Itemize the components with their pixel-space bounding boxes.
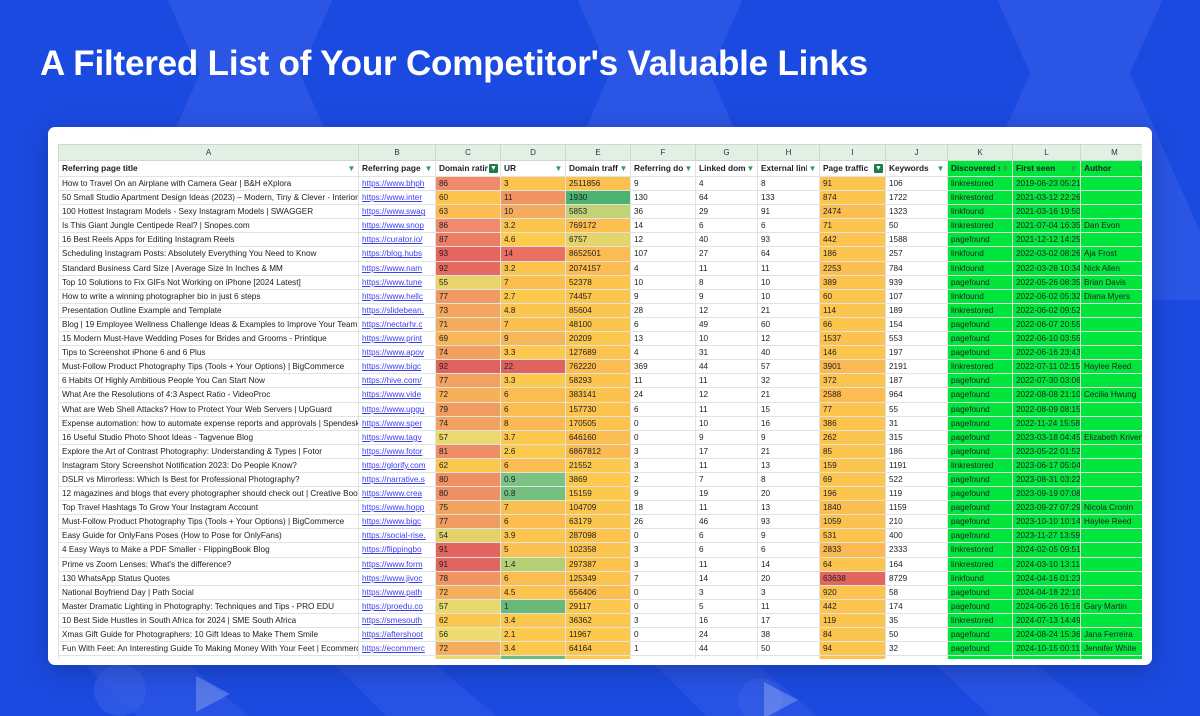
cell-referring-page-url[interactable]: https://smesouth xyxy=(359,613,436,627)
cell-keywords[interactable]: 50 xyxy=(886,628,948,642)
cell-linked-domains[interactable]: 6 xyxy=(696,219,758,233)
cell-referring-page-url[interactable]: https://www.path xyxy=(359,585,436,599)
cell-author[interactable] xyxy=(1081,472,1143,486)
column-letter-j[interactable]: J xyxy=(886,145,948,161)
cell-domain-rating[interactable]: 72 xyxy=(436,642,501,656)
table-row[interactable]: Instagram Story Screenshot Notification … xyxy=(59,458,1143,472)
cell-domain-traffic[interactable]: 20209 xyxy=(566,332,631,346)
cell-author[interactable] xyxy=(1081,444,1143,458)
cell-keywords[interactable]: 400 xyxy=(886,529,948,543)
referring-page-link[interactable]: https://www.jivoc xyxy=(362,574,423,583)
referring-page-link[interactable]: https://www.bigc xyxy=(362,362,421,371)
cell-keywords[interactable]: 32 xyxy=(886,642,948,656)
cell-linked-domains[interactable]: 12 xyxy=(696,303,758,317)
cell-domain-traffic[interactable]: 656406 xyxy=(566,585,631,599)
cell-referring-page-url[interactable]: https://curator.io/ xyxy=(359,233,436,247)
cell-referring-domains[interactable]: 7 xyxy=(631,571,696,585)
cell-first-seen[interactable]: 2023-09-19 07:08 xyxy=(1013,487,1081,501)
cell-author[interactable] xyxy=(1081,205,1143,219)
cell-page-traffic[interactable]: 1059 xyxy=(820,515,886,529)
cell-domain-traffic[interactable]: 63179 xyxy=(566,515,631,529)
cell-first-seen[interactable]: 2022-05-26 08:35 xyxy=(1013,275,1081,289)
cell-referring-page-url[interactable]: https://flippingbo xyxy=(359,543,436,557)
cell-discovered-status[interactable]: linkrestored xyxy=(948,458,1013,472)
cell-ur[interactable]: 3.4 xyxy=(501,642,566,656)
cell-author[interactable]: Brian Davis xyxy=(1081,275,1143,289)
cell-domain-traffic[interactable]: 8652501 xyxy=(566,247,631,261)
cell-ur[interactable]: 3 xyxy=(501,177,566,191)
cell-domain-traffic[interactable]: 297387 xyxy=(566,557,631,571)
cell-discovered-status[interactable]: linkrestored xyxy=(948,557,1013,571)
cell-referring-page-title[interactable]: 130 WhatsApp Status Quotes xyxy=(59,571,359,585)
cell-referring-page-url[interactable]: https://www.inter xyxy=(359,191,436,205)
referring-page-link[interactable]: https://www.inter xyxy=(362,193,422,202)
cell-first-seen[interactable]: 2022-06-16 23:43 xyxy=(1013,346,1081,360)
cell-referring-domains[interactable]: 9 xyxy=(631,289,696,303)
cell-domain-rating[interactable]: 72 xyxy=(436,585,501,599)
table-row[interactable]: Scheduling Instagram Posts: Absolutely E… xyxy=(59,247,1143,261)
cell-referring-page-title[interactable]: Xmas Gift Guide for Photographers: 10 Gi… xyxy=(59,628,359,642)
referring-page-link[interactable]: https://www.print xyxy=(362,334,422,343)
cell-ur[interactable]: 6 xyxy=(501,388,566,402)
cell-keywords[interactable]: 1323 xyxy=(886,205,948,219)
cell-domain-rating[interactable]: 86 xyxy=(436,177,501,191)
cell-referring-page-title[interactable]: Ultimate Guide To Full Body Poses In Pho… xyxy=(59,656,359,659)
referring-page-link[interactable]: https://www.path xyxy=(362,588,422,597)
cell-external-links[interactable]: 9 xyxy=(758,529,820,543)
cell-linked-domains[interactable]: 19 xyxy=(696,487,758,501)
cell-author[interactable] xyxy=(1081,416,1143,430)
cell-domain-traffic[interactable]: 104709 xyxy=(566,501,631,515)
table-row[interactable]: What are Web Shell Attacks? How to Prote… xyxy=(59,402,1143,416)
cell-domain-traffic[interactable]: 127689 xyxy=(566,346,631,360)
cell-ur[interactable]: 10 xyxy=(501,205,566,219)
cell-domain-traffic[interactable]: 125349 xyxy=(566,571,631,585)
cell-domain-rating[interactable]: 62 xyxy=(436,613,501,627)
cell-referring-page-title[interactable]: Expense automation: how to automate expe… xyxy=(59,416,359,430)
cell-first-seen[interactable]: 2023-05-22 01:52 xyxy=(1013,444,1081,458)
cell-referring-domains[interactable]: 3 xyxy=(631,458,696,472)
cell-first-seen[interactable]: 2021-03-16 19:50 xyxy=(1013,205,1081,219)
cell-referring-page-title[interactable]: How to Travel On an Airplane with Camera… xyxy=(59,177,359,191)
filter-icon[interactable]: ▼ xyxy=(554,164,563,173)
cell-domain-traffic[interactable]: 64164 xyxy=(566,642,631,656)
cell-external-links[interactable]: 16 xyxy=(758,416,820,430)
cell-domain-traffic[interactable]: 3869 xyxy=(566,472,631,486)
cell-referring-domains[interactable]: 9 xyxy=(631,487,696,501)
cell-referring-page-title[interactable]: Must-Follow Product Photography Tips (To… xyxy=(59,515,359,529)
cell-linked-domains[interactable]: 29 xyxy=(696,205,758,219)
referring-page-link[interactable]: https://www.sper xyxy=(362,419,422,428)
cell-keywords[interactable]: 189 xyxy=(886,303,948,317)
cell-referring-page-title[interactable]: National Boyfriend Day | Path Social xyxy=(59,585,359,599)
referring-page-link[interactable]: https://www.hopp xyxy=(362,503,424,512)
cell-linked-domains[interactable]: 5 xyxy=(696,599,758,613)
cell-domain-traffic[interactable]: 2074157 xyxy=(566,261,631,275)
referring-page-link[interactable]: https://smesouth xyxy=(362,616,422,625)
cell-page-traffic[interactable]: 186 xyxy=(820,247,886,261)
referring-page-link[interactable]: https://www.hellc xyxy=(362,292,423,301)
cell-author[interactable]: Elizabeth Krivenja xyxy=(1081,430,1143,444)
cell-linked-domains[interactable]: 9 xyxy=(696,289,758,303)
table-row[interactable]: 50 Small Studio Apartment Design Ideas (… xyxy=(59,191,1143,205)
cell-domain-rating[interactable]: 92 xyxy=(436,360,501,374)
cell-external-links[interactable]: 11 xyxy=(758,261,820,275)
cell-discovered-status[interactable]: pagefound xyxy=(948,332,1013,346)
column-letter-b[interactable]: B xyxy=(359,145,436,161)
cell-ur[interactable]: 9 xyxy=(501,332,566,346)
cell-linked-domains[interactable]: 13 xyxy=(696,656,758,659)
filter-icon[interactable]: ▼ xyxy=(936,164,945,173)
cell-referring-domains[interactable]: 4 xyxy=(631,346,696,360)
cell-referring-domains[interactable]: 36 xyxy=(631,205,696,219)
cell-referring-page-title[interactable]: Easy Guide for OnlyFans Poses (How to Po… xyxy=(59,529,359,543)
cell-ur[interactable]: 3.3 xyxy=(501,374,566,388)
spreadsheet-scroll-area[interactable]: ABCDEFGHIJKLM Referring page title▼Refer… xyxy=(58,144,1142,659)
cell-discovered-status[interactable]: pagefound xyxy=(948,388,1013,402)
cell-discovered-status[interactable]: pagefound xyxy=(948,628,1013,642)
cell-referring-page-url[interactable]: https://www.tune xyxy=(359,275,436,289)
referring-page-link[interactable]: https://www.tagv xyxy=(362,433,422,442)
table-row[interactable]: Blog | 19 Employee Wellness Challenge Id… xyxy=(59,317,1143,331)
cell-discovered-status[interactable]: linkfound xyxy=(948,289,1013,303)
cell-author[interactable] xyxy=(1081,374,1143,388)
cell-referring-domains[interactable]: 6 xyxy=(631,317,696,331)
cell-domain-traffic[interactable]: 2511856 xyxy=(566,177,631,191)
cell-referring-page-title[interactable]: Is This Giant Jungle Centipede Real? | S… xyxy=(59,219,359,233)
cell-author[interactable] xyxy=(1081,557,1143,571)
cell-referring-page-url[interactable]: https://proedu.co xyxy=(359,599,436,613)
cell-referring-domains[interactable]: 24 xyxy=(631,388,696,402)
cell-first-seen[interactable]: 2021-03-12 22:26 xyxy=(1013,191,1081,205)
cell-discovered-status[interactable]: pagefound xyxy=(948,430,1013,444)
column-letter-k[interactable]: K xyxy=(948,145,1013,161)
cell-referring-page-title[interactable]: 10 Best Side Hustles in South Africa for… xyxy=(59,613,359,627)
cell-author[interactable]: Dan Evon xyxy=(1081,219,1143,233)
table-row[interactable]: 16 Useful Studio Photo Shoot Ideas - Tag… xyxy=(59,430,1143,444)
cell-domain-traffic[interactable]: 15159 xyxy=(566,487,631,501)
cell-referring-domains[interactable]: 3 xyxy=(631,613,696,627)
cell-domain-rating[interactable]: 74 xyxy=(436,416,501,430)
cell-page-traffic[interactable]: 71 xyxy=(820,219,886,233)
cell-referring-domains[interactable]: 0 xyxy=(631,430,696,444)
cell-referring-page-title[interactable]: Top 10 Solutions to Fix GIFs Not Working… xyxy=(59,275,359,289)
cell-linked-domains[interactable]: 14 xyxy=(696,571,758,585)
cell-domain-traffic[interactable]: 5853 xyxy=(566,205,631,219)
cell-external-links[interactable]: 21 xyxy=(758,444,820,458)
cell-external-links[interactable]: 21 xyxy=(758,303,820,317)
referring-page-link[interactable]: https://www.nam xyxy=(362,264,422,273)
cell-domain-rating[interactable]: 56 xyxy=(436,628,501,642)
cell-referring-page-url[interactable]: https://www.swag xyxy=(359,205,436,219)
cell-ur[interactable]: 8 xyxy=(501,416,566,430)
cell-keywords[interactable]: 1191 xyxy=(886,458,948,472)
cell-external-links[interactable]: 8 xyxy=(758,177,820,191)
cell-domain-rating[interactable]: 91 xyxy=(436,543,501,557)
cell-page-traffic[interactable]: 64 xyxy=(820,557,886,571)
referring-page-link[interactable]: https://aftershoot xyxy=(362,630,423,639)
cell-linked-domains[interactable]: 6 xyxy=(696,543,758,557)
cell-domain-rating[interactable]: 77 xyxy=(436,374,501,388)
cell-ur[interactable]: 3.2 xyxy=(501,219,566,233)
cell-referring-domains[interactable]: 9 xyxy=(631,177,696,191)
cell-linked-domains[interactable]: 44 xyxy=(696,360,758,374)
cell-linked-domains[interactable]: 11 xyxy=(696,261,758,275)
table-row[interactable]: Xmas Gift Guide for Photographers: 10 Gi… xyxy=(59,628,1143,642)
cell-ur[interactable]: 1 xyxy=(501,599,566,613)
cell-domain-rating[interactable]: 91 xyxy=(436,557,501,571)
referring-page-link[interactable]: https://www.swag xyxy=(362,207,425,216)
cell-keywords[interactable]: 58 xyxy=(886,585,948,599)
cell-linked-domains[interactable]: 24 xyxy=(696,628,758,642)
cell-referring-domains[interactable]: 0 xyxy=(631,529,696,543)
cell-first-seen[interactable]: 2022-03-28 10:34 xyxy=(1013,261,1081,275)
cell-keywords[interactable]: 50 xyxy=(886,219,948,233)
cell-domain-traffic[interactable]: 6757 xyxy=(566,233,631,247)
cell-discovered-status[interactable]: linkrestored xyxy=(948,613,1013,627)
cell-first-seen[interactable]: 2021-12-12 14:25 xyxy=(1013,233,1081,247)
cell-author[interactable]: Aja Frost xyxy=(1081,247,1143,261)
cell-referring-domains[interactable]: 11 xyxy=(631,374,696,388)
table-row[interactable]: Presentation Outline Example and Templat… xyxy=(59,303,1143,317)
table-row[interactable]: Master Dramatic Lighting in Photography:… xyxy=(59,599,1143,613)
cell-keywords[interactable]: 119 xyxy=(886,487,948,501)
filter-icon[interactable]: ▼ xyxy=(619,164,628,173)
cell-referring-page-url[interactable]: https://aftershoot xyxy=(359,628,436,642)
cell-domain-rating[interactable]: 54 xyxy=(436,529,501,543)
cell-ur[interactable]: 6 xyxy=(501,515,566,529)
cell-referring-domains[interactable]: 0 xyxy=(631,585,696,599)
cell-referring-domains[interactable]: 0 xyxy=(631,656,696,659)
cell-page-traffic[interactable]: 2474 xyxy=(820,205,886,219)
cell-referring-page-url[interactable]: https://www.bhph xyxy=(359,177,436,191)
cell-ur[interactable]: 0.8 xyxy=(501,487,566,501)
cell-domain-traffic[interactable]: 21552 xyxy=(566,458,631,472)
cell-ur[interactable]: 4.6 xyxy=(501,233,566,247)
cell-domain-traffic[interactable]: 29117 xyxy=(566,599,631,613)
filter-icon-active[interactable]: ▼ xyxy=(874,164,883,173)
header-cell-i[interactable]: Page traffic▼ xyxy=(820,161,886,177)
cell-author[interactable] xyxy=(1081,543,1143,557)
cell-author[interactable]: Haylee Reed xyxy=(1081,515,1143,529)
cell-domain-traffic[interactable]: 74457 xyxy=(566,289,631,303)
cell-first-seen[interactable]: 2024-03-10 13:11 xyxy=(1013,557,1081,571)
header-cell-l[interactable]: First seen▼ xyxy=(1013,161,1081,177)
table-row[interactable]: How to write a winning photographer bio … xyxy=(59,289,1143,303)
cell-linked-domains[interactable]: 64 xyxy=(696,191,758,205)
cell-referring-page-title[interactable]: Tips to Screenshot iPhone 6 and 6 Plus xyxy=(59,346,359,360)
cell-domain-rating[interactable]: 57 xyxy=(436,430,501,444)
cell-ur[interactable]: 2.1 xyxy=(501,628,566,642)
cell-first-seen[interactable]: 2022-11-24 15:58 xyxy=(1013,416,1081,430)
cell-ur[interactable]: 7 xyxy=(501,501,566,515)
cell-domain-traffic[interactable]: 36362 xyxy=(566,613,631,627)
referring-page-link[interactable]: https://proedu.co xyxy=(362,602,423,611)
cell-external-links[interactable]: 12 xyxy=(758,332,820,346)
table-row[interactable]: 10 Best Side Hustles in South Africa for… xyxy=(59,613,1143,627)
referring-page-link[interactable]: https://nectarhr.c xyxy=(362,320,423,329)
cell-keywords[interactable]: 553 xyxy=(886,332,948,346)
cell-referring-domains[interactable]: 0 xyxy=(631,628,696,642)
cell-referring-page-title[interactable]: Scheduling Instagram Posts: Absolutely E… xyxy=(59,247,359,261)
cell-linked-domains[interactable]: 40 xyxy=(696,233,758,247)
cell-first-seen[interactable]: 2024-06-26 16:16 xyxy=(1013,599,1081,613)
cell-referring-page-url[interactable]: https://www.tagv xyxy=(359,430,436,444)
cell-keywords[interactable]: 522 xyxy=(886,472,948,486)
cell-page-traffic[interactable]: 60 xyxy=(820,289,886,303)
cell-discovered-status[interactable]: linkrestored xyxy=(948,543,1013,557)
cell-ur[interactable]: 7 xyxy=(501,275,566,289)
cell-external-links[interactable]: 3 xyxy=(758,585,820,599)
column-letter-a[interactable]: A xyxy=(59,145,359,161)
cell-linked-domains[interactable]: 46 xyxy=(696,515,758,529)
table-row[interactable]: Easy Guide for OnlyFans Poses (How to Po… xyxy=(59,529,1143,543)
referring-page-link[interactable]: https://social-rise. xyxy=(362,531,426,540)
referring-page-link[interactable]: https://www.form xyxy=(362,560,423,569)
cell-external-links[interactable]: 60 xyxy=(758,317,820,331)
cell-page-traffic[interactable]: 442 xyxy=(820,599,886,613)
referring-page-link[interactable]: https://www.bigc xyxy=(362,517,421,526)
cell-first-seen[interactable]: 2022-08-08 21:10 xyxy=(1013,388,1081,402)
cell-referring-page-title[interactable]: 50 Small Studio Apartment Design Ideas (… xyxy=(59,191,359,205)
cell-domain-rating[interactable]: 73 xyxy=(436,303,501,317)
cell-ur[interactable]: 6 xyxy=(501,571,566,585)
cell-referring-domains[interactable]: 369 xyxy=(631,360,696,374)
cell-keywords[interactable]: 1722 xyxy=(886,191,948,205)
cell-referring-page-url[interactable]: https://www.fotor xyxy=(359,444,436,458)
cell-domain-traffic[interactable]: 762220 xyxy=(566,360,631,374)
cell-discovered-status[interactable]: linkfound xyxy=(948,205,1013,219)
cell-page-traffic[interactable]: 442 xyxy=(820,233,886,247)
cell-ur[interactable]: 1.4 xyxy=(501,557,566,571)
cell-author[interactable] xyxy=(1081,487,1143,501)
cell-referring-domains[interactable]: 0 xyxy=(631,416,696,430)
cell-ur[interactable]: 14 xyxy=(501,247,566,261)
cell-first-seen[interactable]: 2022-06-10 03:55 xyxy=(1013,332,1081,346)
cell-linked-domains[interactable]: 4 xyxy=(696,177,758,191)
cell-referring-domains[interactable]: 26 xyxy=(631,515,696,529)
cell-external-links[interactable]: 38 xyxy=(758,628,820,642)
table-row[interactable]: Explore the Art of Contrast Photography:… xyxy=(59,444,1143,458)
cell-keywords[interactable]: 2191 xyxy=(886,360,948,374)
header-cell-e[interactable]: Domain traffic▼ xyxy=(566,161,631,177)
cell-keywords[interactable]: 315 xyxy=(886,430,948,444)
cell-external-links[interactable]: 20 xyxy=(758,571,820,585)
cell-keywords[interactable]: 1159 xyxy=(886,501,948,515)
cell-keywords[interactable]: 187 xyxy=(886,374,948,388)
cell-linked-domains[interactable]: 11 xyxy=(696,402,758,416)
cell-referring-page-title[interactable]: Presentation Outline Example and Templat… xyxy=(59,303,359,317)
cell-external-links[interactable]: 13 xyxy=(758,458,820,472)
filter-icon[interactable]: ▼ xyxy=(1001,164,1010,173)
cell-ur[interactable]: 3.2 xyxy=(501,261,566,275)
cell-external-links[interactable]: 6 xyxy=(758,219,820,233)
cell-page-traffic[interactable]: 196 xyxy=(820,487,886,501)
cell-discovered-status[interactable]: linkrestored xyxy=(948,303,1013,317)
filter-icon[interactable]: ▼ xyxy=(684,164,693,173)
table-row[interactable]: Top Travel Hashtags To Grow Your Instagr… xyxy=(59,501,1143,515)
cell-external-links[interactable]: 9 xyxy=(758,430,820,444)
cell-referring-page-url[interactable]: https://www.vide xyxy=(359,388,436,402)
cell-referring-page-url[interactable]: https://nectarhr.c xyxy=(359,317,436,331)
cell-referring-page-title[interactable]: Instagram Story Screenshot Notification … xyxy=(59,458,359,472)
cell-author[interactable] xyxy=(1081,402,1143,416)
cell-author[interactable] xyxy=(1081,177,1143,191)
cell-external-links[interactable]: 57 xyxy=(758,360,820,374)
cell-domain-rating[interactable]: 75 xyxy=(436,501,501,515)
cell-first-seen[interactable]: 2022-06-02 09:52 xyxy=(1013,303,1081,317)
cell-first-seen[interactable]: 2022-08-09 08:15 xyxy=(1013,402,1081,416)
cell-referring-domains[interactable]: 1 xyxy=(631,642,696,656)
cell-discovered-status[interactable]: pagefound xyxy=(948,599,1013,613)
cell-domain-traffic[interactable]: 769172 xyxy=(566,219,631,233)
table-row[interactable]: What Are the Resolutions of 4:3 Aspect R… xyxy=(59,388,1143,402)
cell-external-links[interactable]: 10 xyxy=(758,275,820,289)
cell-linked-domains[interactable]: 8 xyxy=(696,275,758,289)
cell-first-seen[interactable]: 2023-10-10 10:14 xyxy=(1013,515,1081,529)
cell-referring-page-title[interactable]: Standard Business Card Size | Average Si… xyxy=(59,261,359,275)
referring-page-link[interactable]: https://curator.io/ xyxy=(362,235,423,244)
table-row[interactable]: Fun With Feet: An Interesting Guide To M… xyxy=(59,642,1143,656)
cell-discovered-status[interactable]: linkrestored xyxy=(948,191,1013,205)
cell-domain-rating[interactable]: 55 xyxy=(436,275,501,289)
cell-first-seen[interactable]: 2022-03-02 08:26 xyxy=(1013,247,1081,261)
cell-referring-page-url[interactable]: https://narrative.s xyxy=(359,472,436,486)
filter-icon[interactable]: ▼ xyxy=(424,164,433,173)
cell-ur[interactable]: 4.5 xyxy=(501,585,566,599)
cell-keywords[interactable]: 31 xyxy=(886,416,948,430)
cell-domain-rating[interactable]: 80 xyxy=(436,487,501,501)
cell-author[interactable]: Haylee Reed xyxy=(1081,360,1143,374)
cell-discovered-status[interactable]: pagefound xyxy=(948,472,1013,486)
cell-ur[interactable]: 2.6 xyxy=(501,444,566,458)
referring-page-link[interactable]: https://www.fotor xyxy=(362,447,423,456)
cell-referring-domains[interactable]: 3 xyxy=(631,557,696,571)
cell-keywords[interactable]: 964 xyxy=(886,388,948,402)
cell-discovered-status[interactable]: pagefound xyxy=(948,317,1013,331)
cell-external-links[interactable]: 10 xyxy=(758,289,820,303)
table-row[interactable]: Must-Follow Product Photography Tips (To… xyxy=(59,515,1143,529)
cell-discovered-status[interactable]: linkrestored xyxy=(948,360,1013,374)
cell-referring-page-url[interactable]: https://www.upgu xyxy=(359,402,436,416)
cell-linked-domains[interactable]: 17 xyxy=(696,444,758,458)
cell-referring-page-title[interactable]: What Are the Resolutions of 4:3 Aspect R… xyxy=(59,388,359,402)
referring-page-link[interactable]: https://ecommerc xyxy=(362,644,425,653)
cell-page-traffic[interactable]: 920 xyxy=(820,585,886,599)
cell-first-seen[interactable]: 2019-06-23 05:21 xyxy=(1013,177,1081,191)
cell-ur[interactable]: 3.4 xyxy=(501,613,566,627)
cell-referring-page-title[interactable]: Master Dramatic Lighting in Photography:… xyxy=(59,599,359,613)
cell-page-traffic[interactable]: 2253 xyxy=(820,261,886,275)
table-row[interactable]: 12 magazines and blogs that every photog… xyxy=(59,487,1143,501)
cell-author[interactable] xyxy=(1081,346,1143,360)
cell-referring-page-url[interactable]: https://www.hopp xyxy=(359,501,436,515)
column-letter-d[interactable]: D xyxy=(501,145,566,161)
cell-linked-domains[interactable]: 16 xyxy=(696,613,758,627)
cell-keywords[interactable]: 1588 xyxy=(886,233,948,247)
cell-ur[interactable]: 11 xyxy=(501,191,566,205)
column-letter-c[interactable]: C xyxy=(436,145,501,161)
cell-external-links[interactable]: 93 xyxy=(758,515,820,529)
cell-page-traffic[interactable]: 389 xyxy=(820,275,886,289)
cell-referring-page-url[interactable]: https://www.jivoc xyxy=(359,571,436,585)
column-letter-e[interactable]: E xyxy=(566,145,631,161)
cell-first-seen[interactable]: 2023-11-27 13:59 xyxy=(1013,529,1081,543)
cell-referring-page-url[interactable]: https://www.bigc xyxy=(359,360,436,374)
cell-external-links[interactable]: 21 xyxy=(758,388,820,402)
header-cell-d[interactable]: UR▼ xyxy=(501,161,566,177)
cell-ur[interactable]: 3.3 xyxy=(501,346,566,360)
